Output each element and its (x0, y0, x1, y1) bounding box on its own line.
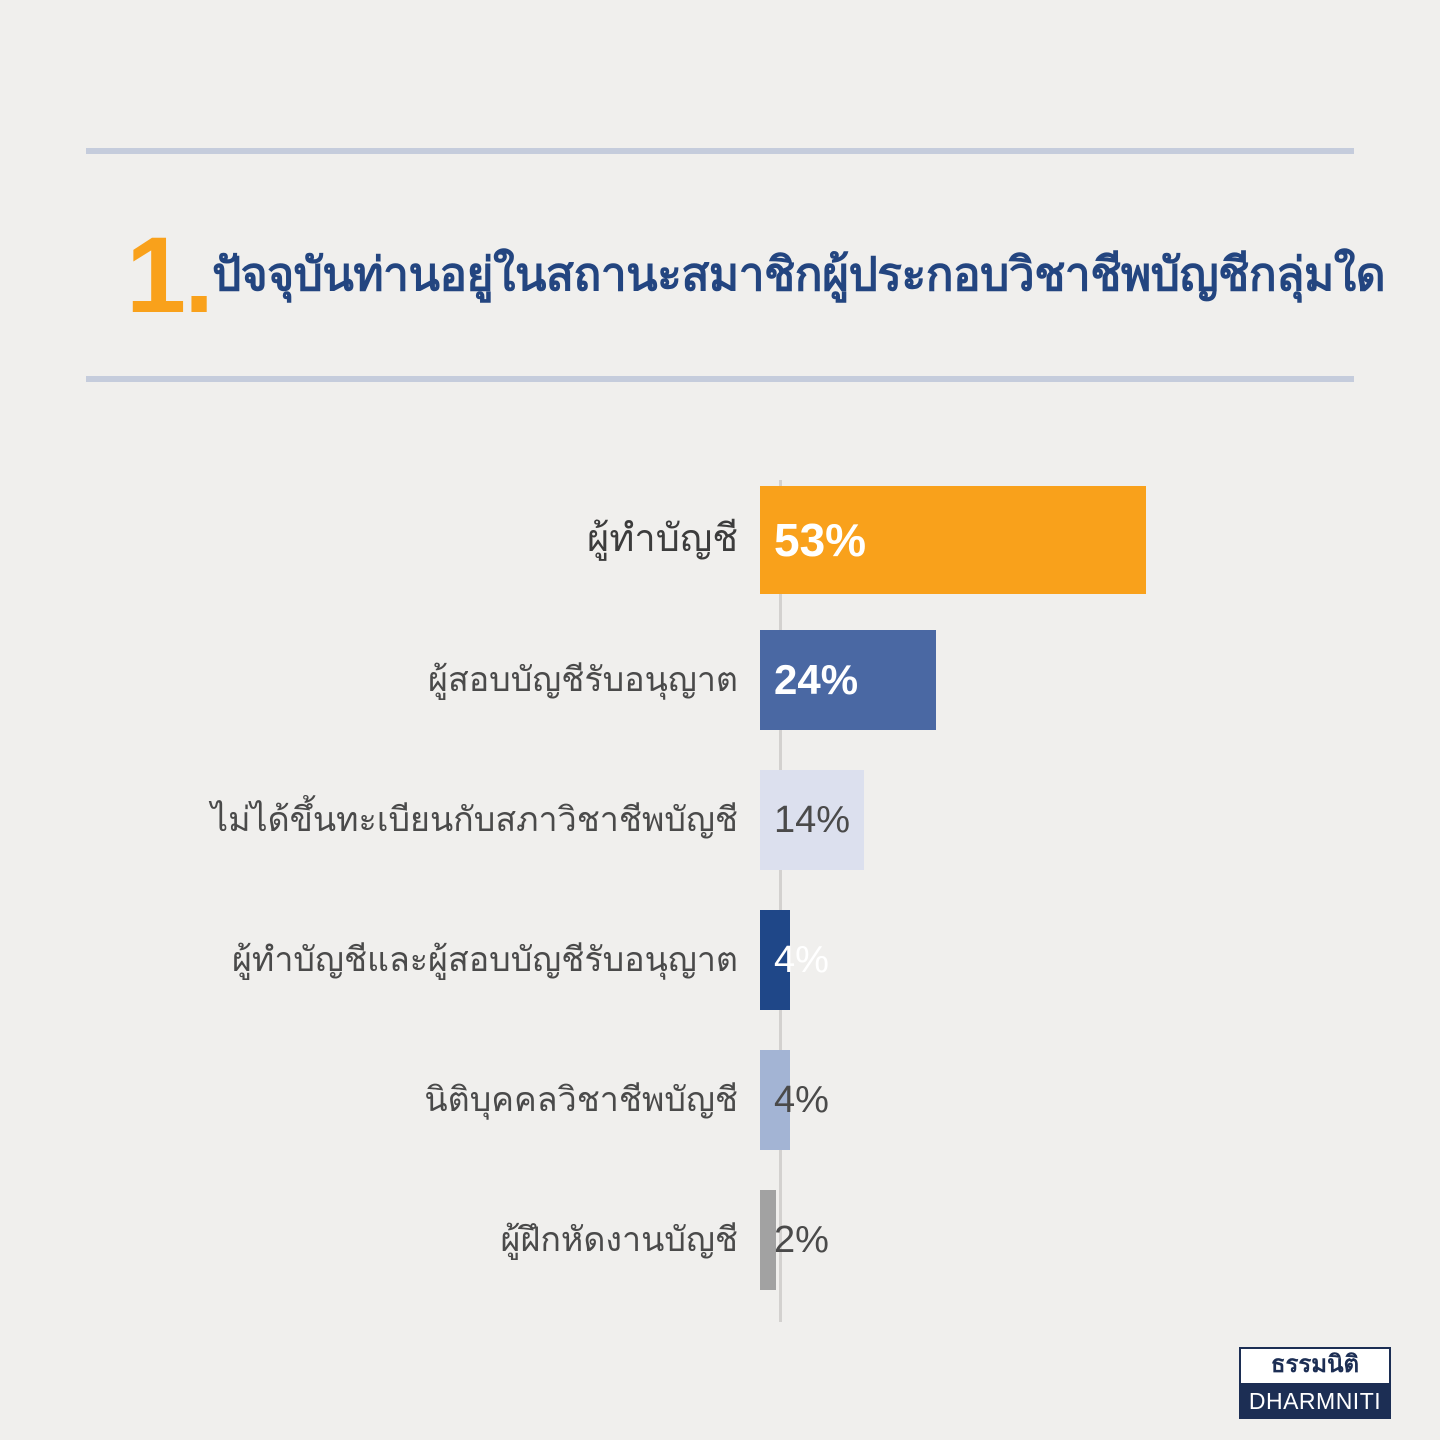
bar-track: 53% (760, 470, 1440, 610)
bar-track: 2% (760, 1170, 1440, 1310)
dharmniti-logo: ธรรมนิติ DHARMNITI (1239, 1347, 1391, 1419)
bar-track: 24% (760, 610, 1440, 750)
page-title: ปัจจุบันท่านอยู่ในสถานะสมาชิกผู้ประกอบวิ… (212, 246, 1385, 304)
bar-rows: ผู้ทำบัญชี 53% ผู้สอบบัญชีรับอนุญาต 24% … (0, 470, 1440, 1310)
bar-category-label: ผู้ทำบัญชี (0, 517, 760, 563)
logo-latin-name-box: DHARMNITI (1239, 1383, 1391, 1419)
bar-category-label: ผู้ฝึกหัดงานบัญชี (0, 1220, 760, 1261)
bar-fill: 24% (760, 630, 936, 730)
logo-latin-name: DHARMNITI (1249, 1390, 1381, 1413)
bar-category-label: นิติบุคคลวิชาชีพบัญชี (0, 1080, 760, 1121)
logo-thai-name: ธรรมนิติ (1271, 1353, 1359, 1377)
bar-value-label: 24% (774, 659, 858, 701)
bar-fill: 4% (760, 910, 790, 1010)
logo-thai-name-box: ธรรมนิติ (1239, 1347, 1391, 1383)
bar-category-label: ผู้สอบบัญชีรับอนุญาต (0, 660, 760, 701)
bar-value-label: 2% (774, 1221, 829, 1259)
bar-fill: 4% (760, 1050, 790, 1150)
bar-value-label: 14% (774, 801, 850, 839)
bar-value-label: 53% (774, 517, 866, 563)
bar-row: ผู้ทำบัญชี 53% (0, 470, 1440, 610)
header-rule-bottom (86, 376, 1354, 382)
header: 1. ปัจจุบันท่านอยู่ในสถานะสมาชิกผู้ประกอ… (86, 190, 1366, 360)
step-number: 1. (86, 221, 212, 329)
bar-track: 14% (760, 750, 1440, 890)
bar-row: ผู้ทำบัญชีและผู้สอบบัญชีรับอนุญาต 4% (0, 890, 1440, 1030)
bar-row: ไม่ได้ขึ้นทะเบียนกับสภาวิชาชีพบัญชี 14% (0, 750, 1440, 890)
bar-track: 4% (760, 1030, 1440, 1170)
bar-row: ผู้สอบบัญชีรับอนุญาต 24% (0, 610, 1440, 750)
bar-fill: 53% (760, 486, 1146, 594)
bar-row: ผู้ฝึกหัดงานบัญชี 2% (0, 1170, 1440, 1310)
bar-fill: 2% (760, 1190, 776, 1290)
bar-fill: 14% (760, 770, 864, 870)
bar-track: 4% (760, 890, 1440, 1030)
bar-category-label: ไม่ได้ขึ้นทะเบียนกับสภาวิชาชีพบัญชี (0, 800, 760, 841)
header-rule-top (86, 148, 1354, 154)
bar-chart: ผู้ทำบัญชี 53% ผู้สอบบัญชีรับอนุญาต 24% … (0, 470, 1440, 1320)
bar-row: นิติบุคคลวิชาชีพบัญชี 4% (0, 1030, 1440, 1170)
bar-value-label: 4% (774, 941, 829, 979)
bar-category-label: ผู้ทำบัญชีและผู้สอบบัญชีรับอนุญาต (0, 940, 760, 981)
bar-value-label: 4% (774, 1081, 829, 1119)
